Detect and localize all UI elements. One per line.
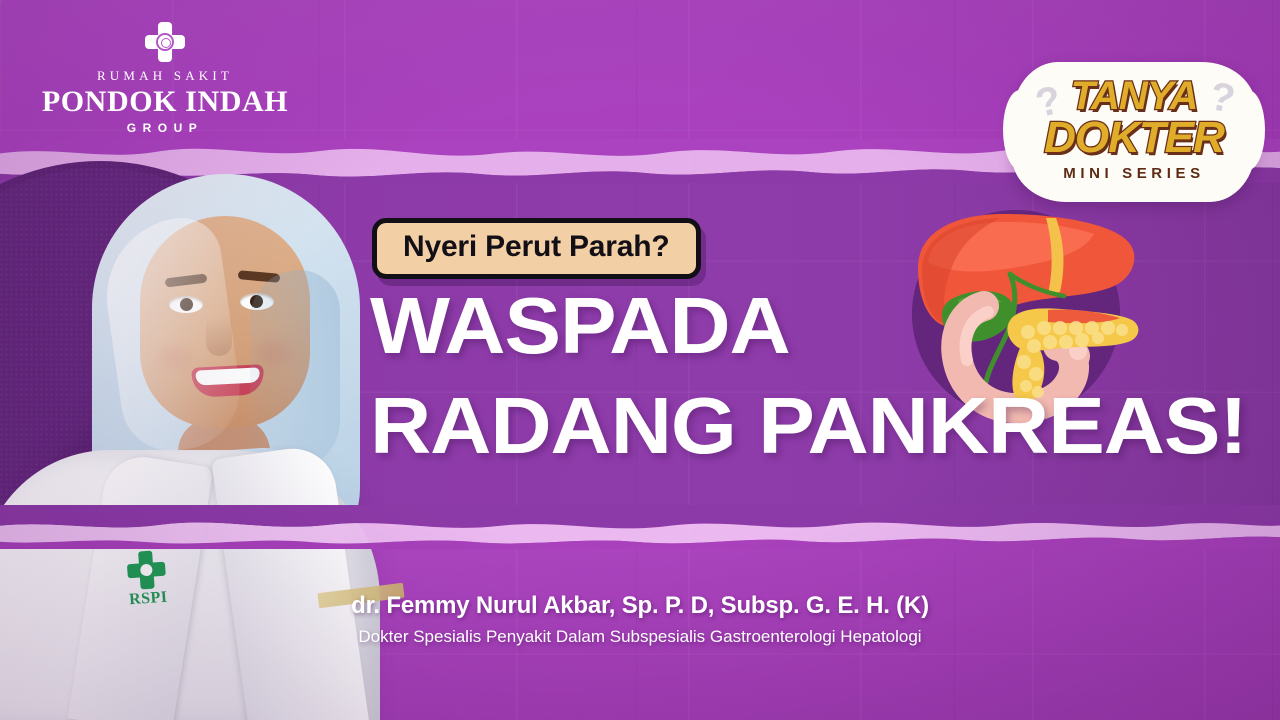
- kicker-text: Nyeri Perut Parah?: [403, 230, 670, 263]
- logo-line-pondok-indah: PONDOK INDAH: [40, 86, 290, 118]
- logo-line-group: GROUP: [40, 121, 290, 135]
- cross-center-dot: [138, 561, 155, 578]
- cross-emblem-circle: [156, 33, 174, 51]
- headline-block: WASPADA RADANG PANKREAS!: [370, 288, 1250, 464]
- green-cross-icon: [126, 549, 167, 590]
- kicker-pill: Nyeri Perut Parah?: [372, 218, 701, 279]
- headline-line-1: WASPADA: [370, 288, 1280, 364]
- badge-content: ? ? TANYA DOKTER MINI SERIES: [1012, 62, 1256, 202]
- hospital-logo: RUMAH SAKIT PONDOK INDAH GROUP: [40, 22, 290, 135]
- headline-line-2: RADANG PANKREAS!: [370, 388, 1280, 464]
- doctor-credit-block: dr. Femmy Nurul Akbar, Sp. P. D, Subsp. …: [0, 592, 1280, 647]
- hospital-cross-icon: [145, 22, 185, 62]
- tanya-dokter-badge: ? ? TANYA DOKTER MINI SERIES: [1012, 62, 1256, 202]
- badge-line-mini-series: MINI SERIES: [1012, 165, 1256, 182]
- logo-line-rumah-sakit: RUMAH SAKIT: [40, 68, 290, 84]
- doctor-name: dr. Femmy Nurul Akbar, Sp. P. D, Subsp. …: [0, 592, 1280, 620]
- thumbnail-canvas: RSPI RUMAH SAKIT PONDOK INDAH GROUP ? ? …: [0, 0, 1280, 720]
- hijab-fold-right: [250, 270, 340, 470]
- doctor-specialty: Dokter Spesialis Penyakit Dalam Subspesi…: [0, 627, 1280, 647]
